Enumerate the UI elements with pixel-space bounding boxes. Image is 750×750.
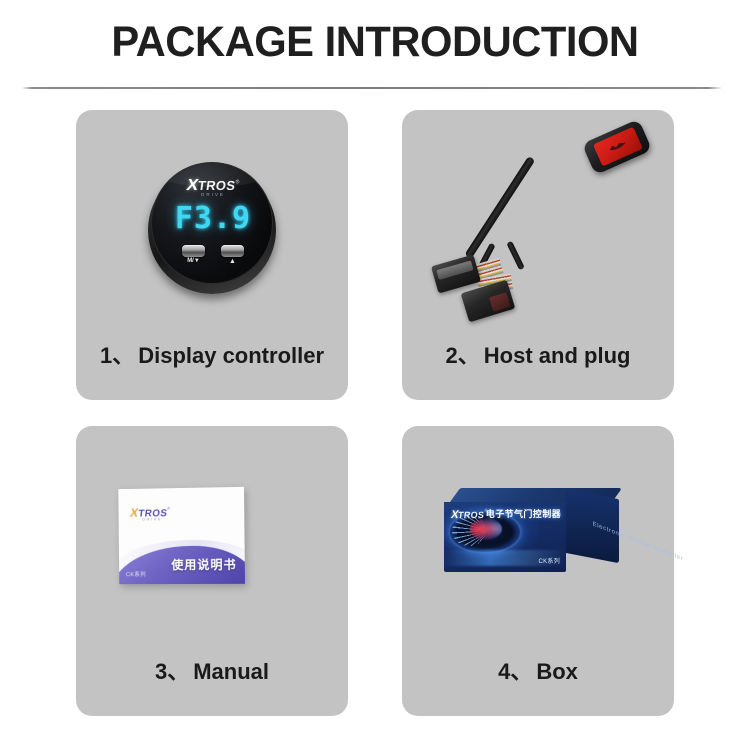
host-cable-branch-right bbox=[506, 241, 525, 271]
host-module bbox=[582, 119, 652, 175]
retail-box: Electronic throttle controller XTROS® DR… bbox=[402, 426, 674, 651]
panel-label-2: Host and plug bbox=[484, 343, 631, 368]
box-series-code: CK系列 bbox=[538, 556, 560, 565]
host-connector-right bbox=[461, 280, 516, 323]
manual-title-chinese: 使用说明书 bbox=[171, 556, 237, 573]
box-title-chinese: 电子节气门控制器 bbox=[486, 507, 561, 520]
product-image-box: Electronic throttle controller XTROS® DR… bbox=[402, 426, 674, 651]
panel-number-3: 3、 bbox=[155, 659, 189, 684]
panel-caption-display-controller: 1、Display controller bbox=[76, 338, 348, 370]
box-side-face: Electronic throttle controller bbox=[565, 489, 619, 563]
host-module-red-label bbox=[593, 127, 643, 167]
panel-label-4: Box bbox=[536, 659, 578, 684]
panel-number-2: 2、 bbox=[446, 343, 480, 368]
controller-mode-button[interactable] bbox=[182, 245, 205, 257]
box-subtitle-english: Electronic throttle controller bbox=[583, 518, 693, 567]
panel-caption-manual: 3、Manual bbox=[76, 654, 348, 686]
panel-number-4: 4、 bbox=[498, 659, 532, 684]
manual-cover: XTROS® DRIVE 使用说明书 CK系列 bbox=[118, 487, 245, 584]
manual-booklet: XTROS® DRIVE 使用说明书 CK系列 bbox=[76, 426, 348, 651]
host-cable-main bbox=[464, 156, 535, 259]
xtros-logo-subtitle: DRIVE bbox=[152, 192, 273, 197]
host-connector-left bbox=[431, 254, 481, 293]
xtros-logo-subtitle: DRIVE bbox=[464, 516, 482, 520]
panel-caption-host-and-plug: 2、Host and plug bbox=[402, 338, 674, 370]
display-controller-device: XTROS® DRIVE F3.9 M/▼ ▲ bbox=[148, 162, 276, 290]
panel-manual[interactable]: XTROS® DRIVE 使用说明书 CK系列 3、Manual bbox=[76, 426, 348, 716]
panel-number-1: 1、 bbox=[100, 343, 134, 368]
panel-label-3: Manual bbox=[193, 659, 269, 684]
product-image-manual: XTROS® DRIVE 使用说明书 CK系列 bbox=[76, 426, 348, 651]
panel-caption-box: 4、Box bbox=[402, 654, 674, 686]
controller-mode-button-label: M/▼ bbox=[180, 258, 207, 264]
xtros-logo-subtitle: DRIVE bbox=[142, 516, 162, 521]
host-and-plug-device bbox=[402, 110, 674, 335]
controller-up-button[interactable] bbox=[221, 245, 244, 257]
panel-display-controller[interactable]: XTROS® DRIVE F3.9 M/▼ ▲ 1、Display contro… bbox=[76, 110, 348, 400]
product-image-host-and-plug bbox=[402, 110, 674, 335]
panel-box[interactable]: Electronic throttle controller XTROS® DR… bbox=[402, 426, 674, 716]
controller-display-readout: F3.9 bbox=[152, 201, 273, 236]
panel-label-1: Display controller bbox=[138, 343, 324, 368]
panel-host-and-plug[interactable]: 2、Host and plug bbox=[402, 110, 674, 400]
controller-up-button-label: ▲ bbox=[219, 258, 246, 265]
manual-series-code: CK系列 bbox=[126, 570, 146, 578]
panel-grid: XTROS® DRIVE F3.9 M/▼ ▲ 1、Display contro… bbox=[0, 0, 750, 750]
controller-face: XTROS® DRIVE F3.9 M/▼ ▲ bbox=[151, 162, 273, 284]
box-front-face: XTROS® DRIVE 电子节气门控制器 CK系列 bbox=[444, 502, 566, 572]
product-image-display-controller: XTROS® DRIVE F3.9 M/▼ ▲ bbox=[76, 110, 348, 335]
